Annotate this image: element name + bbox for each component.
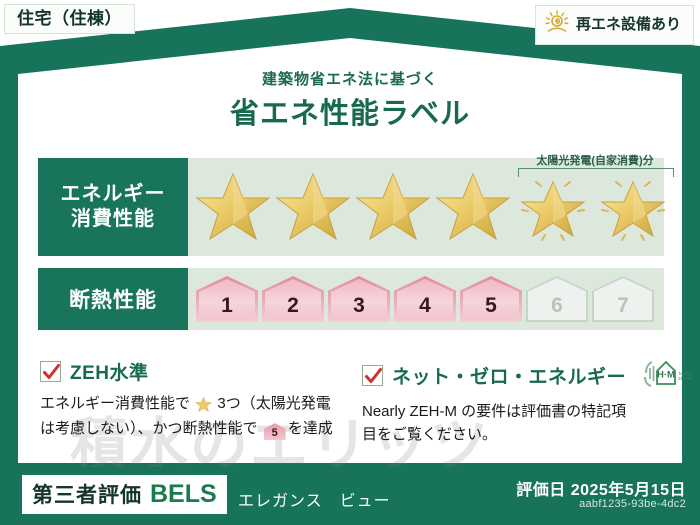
star-icon [274, 168, 352, 246]
bels-jp-label: 第三者評価 [32, 479, 142, 509]
insulation-level-4: 4 [394, 276, 456, 322]
star-icon [434, 168, 512, 246]
energy-stars-area: 太陽光発電(自家消費)分 [188, 158, 672, 256]
property-name: エレガンス ビュー [238, 487, 391, 511]
star-icon [354, 168, 432, 246]
insulation-level-6: 6 [526, 276, 588, 322]
solar-annotation-label: 太陽光発電(自家消費)分 [510, 152, 680, 168]
zeh-standard-title: ZEH水準 [70, 358, 149, 385]
label-title: 省エネ性能ラベル [0, 90, 700, 132]
footer-bar: 第三者評価 BELS エレガンス ビュー 評価日 2025年5月15日 aabf… [0, 467, 700, 525]
renewable-equipment-badge: 再エネ設備あり [535, 5, 694, 45]
inline-insulation-house-icon: 5 [264, 423, 286, 440]
insulation-level-3: 3 [328, 276, 390, 322]
zeh-text-star-count: 3つ（太陽光発電 [217, 395, 330, 412]
checkbox-checked-icon [362, 365, 383, 386]
net-zero-energy-text: Nearly ZEH-M の要件は評価書の特記項 目をご覧ください。 [362, 400, 674, 447]
evaluation-date: 評価日 2025年5月15日 [516, 476, 686, 500]
zeh-text-part1: エネルギー消費性能で [40, 395, 190, 412]
solar-sun-icon [544, 10, 570, 39]
net-zero-energy-title: ネット・ゼロ・エネルギー [392, 362, 626, 389]
zeh-text-part2: は考慮しない）、かつ断熱性能で [40, 420, 258, 437]
insulation-scale: 1 2 3 4 5 6 7 [188, 276, 654, 322]
inline-star-icon [195, 397, 216, 414]
zeh-standard-text: エネルギー消費性能で 3つ（太陽光発電 は考慮しない）、かつ断熱性能で 5 を達… [40, 392, 340, 441]
label-subtitle: 建築物省エネ法に基づく [0, 68, 700, 89]
zeh-m-house-logo: H·M Nearly ZEH-M [641, 358, 697, 393]
bels-en-label: BELS [150, 480, 217, 509]
energy-performance-label: 住宅（住棟） 再エネ設備あり 建築物省エネ法に基づく 省エネ性能 [0, 0, 700, 525]
energy-performance-row: エネルギー 消費性能 太陽光発電(自家消費)分 [38, 158, 664, 256]
insulation-performance-row: 断熱性能 1 2 3 4 5 6 7 [38, 268, 664, 330]
star-rating [188, 168, 672, 246]
net-zero-energy-block: ネット・ゼロ・エネルギー H·M Nearly ZEH-M Nearly ZEH… [362, 358, 674, 447]
dwelling-type-tag: 住宅（住棟） [4, 4, 135, 34]
insulation-level-1: 1 [196, 276, 258, 322]
star-icon [194, 168, 272, 246]
svg-text:H·M: H·M [657, 370, 675, 381]
renewable-badge-label: 再エネ設備あり [576, 17, 681, 32]
star-icon-solar [594, 168, 672, 246]
star-icon-solar [514, 168, 592, 246]
zeh-standard-block: ZEH水準 エネルギー消費性能で 3つ（太陽光発電 は考慮しない）、かつ断熱性能… [40, 358, 340, 441]
energy-label-line2: 消費性能 [71, 207, 155, 232]
svg-text:ZEH-M: ZEH-M [678, 376, 692, 381]
insulation-level-2: 2 [262, 276, 324, 322]
insulation-level-5: 5 [460, 276, 522, 322]
insulation-performance-label: 断熱性能 [38, 268, 188, 330]
net-zero-energy-head: ネット・ゼロ・エネルギー H·M Nearly ZEH-M [362, 358, 674, 393]
zeh-standard-head: ZEH水準 [40, 358, 340, 385]
insulation-scale-area: 1 2 3 4 5 6 7 [188, 268, 664, 330]
insulation-level-7: 7 [592, 276, 654, 322]
energy-label-line1: エネルギー [61, 182, 166, 207]
energy-performance-label: エネルギー 消費性能 [38, 158, 188, 256]
bels-certification-box: 第三者評価 BELS [22, 475, 227, 514]
evaluation-id: aabf1235-93be-4dc2 [579, 498, 686, 510]
checkbox-checked-icon [40, 361, 61, 382]
zeh-text-part3: を達成 [288, 420, 333, 437]
net-zero-text-line2: 目をご覧ください。 [362, 426, 497, 443]
net-zero-text-line1: Nearly ZEH-M の要件は評価書の特記項 [362, 403, 626, 420]
